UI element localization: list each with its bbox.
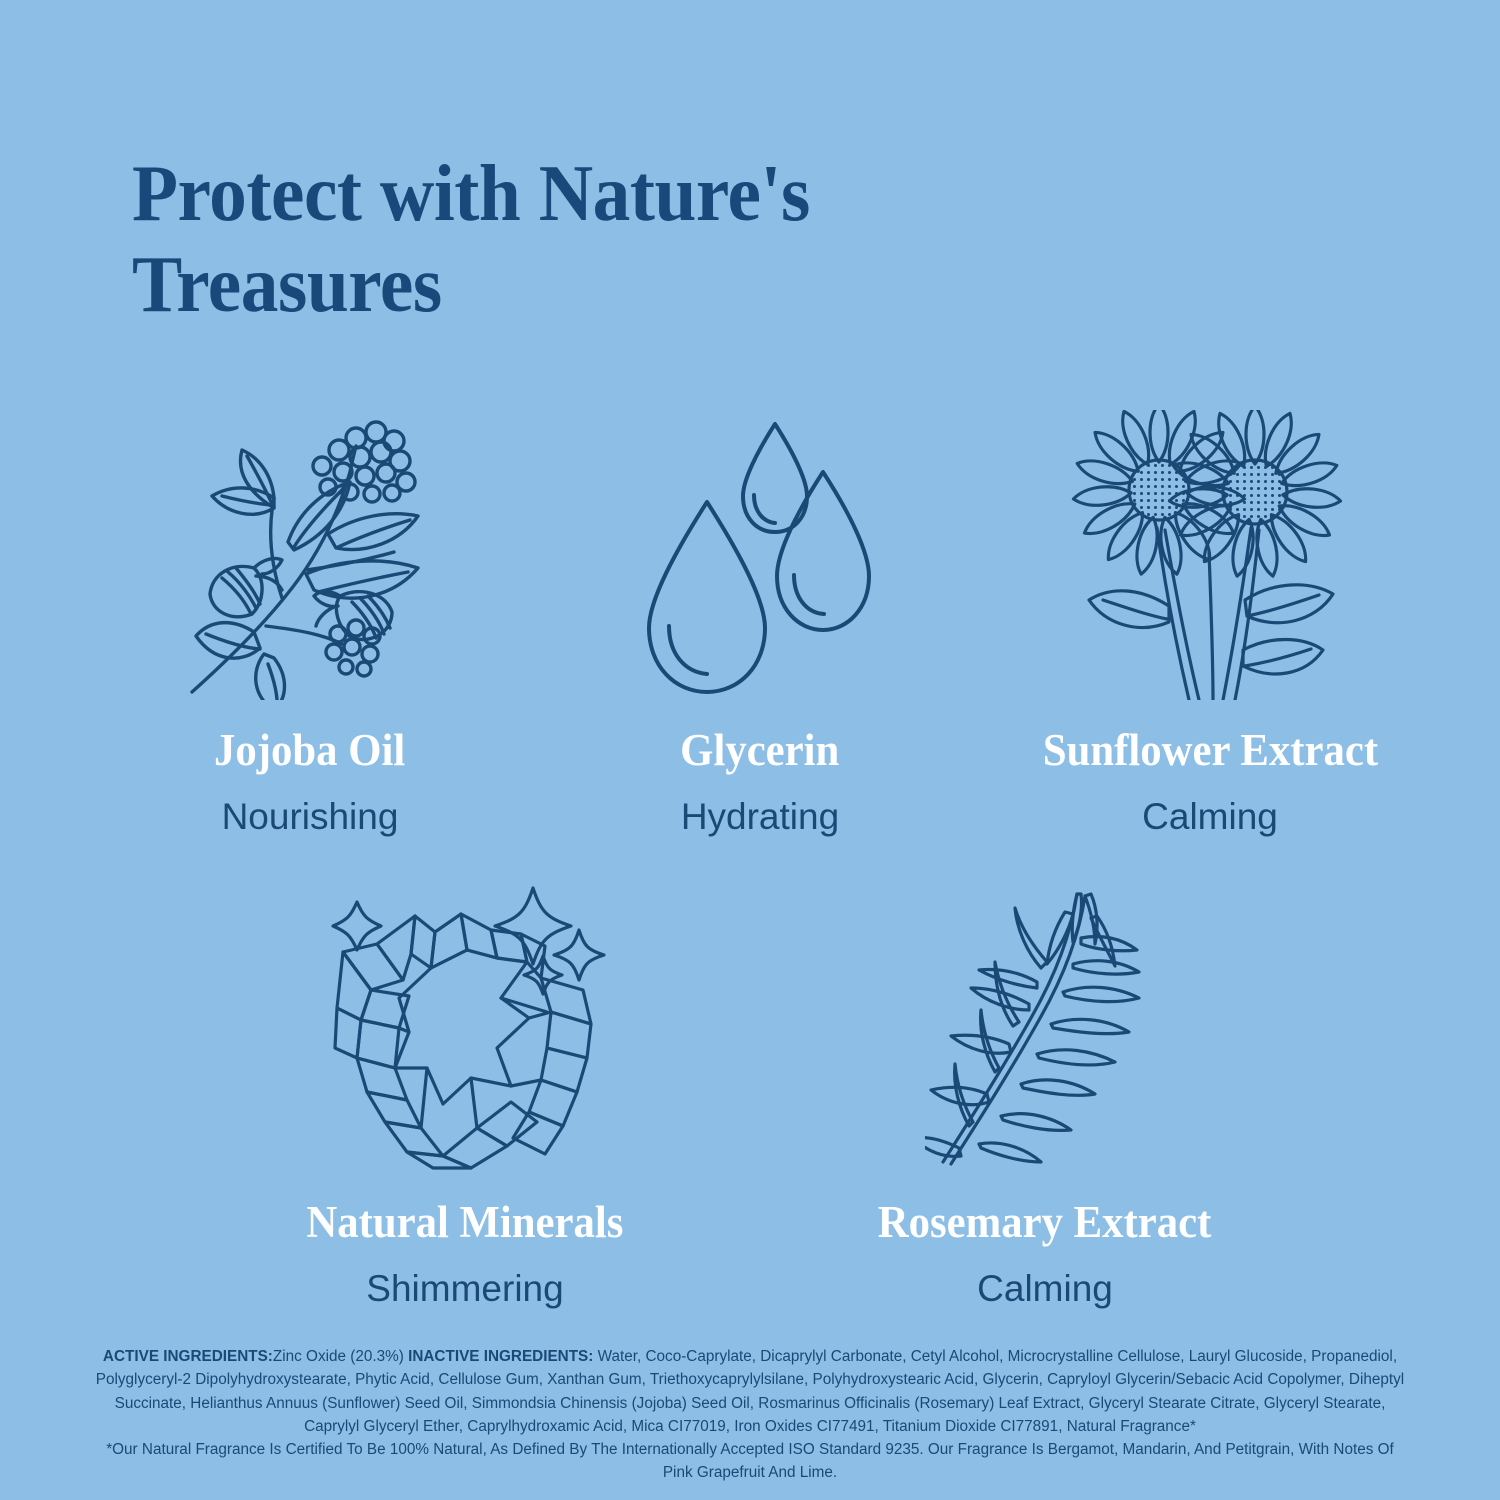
ingredient-name: Jojoba Oil: [214, 724, 405, 776]
ingredient-benefit: Hydrating: [681, 796, 839, 838]
ingredient-row-top: Jojoba Oil Nourishing Glycerin Hydr: [150, 400, 1370, 838]
ingredient-benefit: Calming: [977, 1268, 1113, 1310]
ingredient-name: Glycerin: [680, 724, 839, 776]
sunflower-icon: [1060, 400, 1360, 700]
ingredient-card-sunflower-extract: Sunflower Extract Calming: [1050, 400, 1370, 838]
ingredient-card-jojoba-oil: Jojoba Oil Nourishing: [150, 400, 470, 838]
ingredient-name: Sunflower Extract: [1042, 724, 1377, 776]
rosemary-sprig-icon: [895, 872, 1195, 1172]
ingredient-card-rosemary-extract: Rosemary Extract Calming: [885, 872, 1205, 1310]
ingredient-benefit: Nourishing: [222, 796, 399, 838]
active-ingredients-label: ACTIVE INGREDIENTS:: [103, 1348, 273, 1365]
page-title: Protect with Nature's Treasures: [132, 148, 1062, 329]
ingredient-row-bottom: Natural Minerals Shimmering: [305, 872, 1205, 1310]
active-ingredients-value: Zinc Oxide (20.3%): [273, 1348, 408, 1365]
jojoba-sprig-icon: [160, 400, 460, 700]
ingredient-infographic: Protect with Nature's Treasures: [0, 0, 1500, 1500]
ingredient-card-glycerin: Glycerin Hydrating: [600, 400, 920, 838]
ingredient-benefit: Shimmering: [366, 1268, 563, 1310]
ingredient-benefit: Calming: [1142, 796, 1278, 838]
ingredient-card-natural-minerals: Natural Minerals Shimmering: [305, 872, 625, 1310]
water-droplets-icon: [610, 400, 910, 700]
inactive-ingredients-label: INACTIVE INGREDIENTS:: [408, 1348, 593, 1365]
mineral-crystal-icon: [315, 872, 615, 1172]
ingredient-name: Natural Minerals: [306, 1196, 623, 1248]
ingredient-declaration: ACTIVE INGREDIENTS:Zinc Oxide (20.3%) IN…: [90, 1345, 1410, 1485]
ingredient-name: Rosemary Extract: [878, 1196, 1212, 1248]
fragrance-footnote: *Our Natural Fragrance Is Certified To B…: [90, 1438, 1410, 1485]
